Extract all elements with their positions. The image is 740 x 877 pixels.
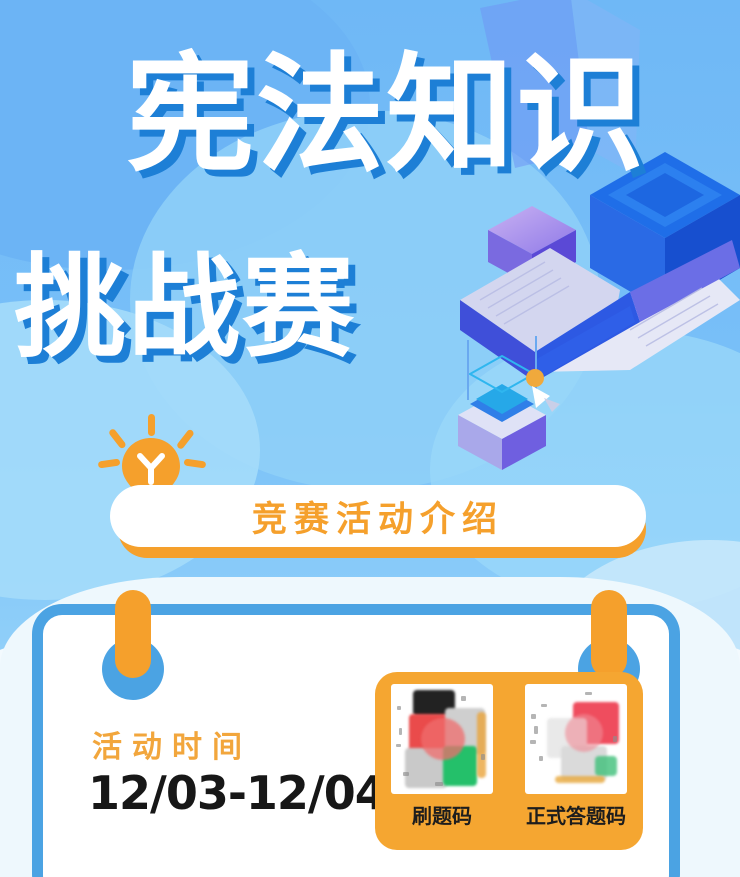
qr-item-official[interactable]: 正式答题码 [520, 684, 632, 829]
binder-clip-right [591, 590, 627, 678]
poster-root: 宪法知识 挑战赛 竞赛活动介绍 活动时间 1 [0, 0, 740, 877]
qr-code-official-image[interactable] [525, 684, 627, 794]
binder-clip-left [115, 590, 151, 678]
qr-caption-practice: 刷题码 [412, 800, 472, 829]
activity-time-label: 活动时间 [92, 722, 252, 766]
poster-title: 宪法知识 挑战赛 [0, 0, 740, 400]
qr-code-practice-image[interactable] [391, 684, 493, 794]
qr-caption-official: 正式答题码 [526, 800, 626, 829]
title-line-2: 挑战赛 [14, 252, 356, 364]
title-line-1: 宪法知识 [126, 52, 646, 180]
section-heading-pill[interactable]: 竞赛活动介绍 [110, 485, 646, 547]
qr-code-panel: 刷题码 正式答题码 [375, 672, 643, 850]
qr-item-practice[interactable]: 刷题码 [386, 684, 498, 829]
activity-time-value: 12/03-12/04 [88, 766, 386, 820]
section-heading-text: 竞赛活动介绍 [252, 491, 504, 542]
